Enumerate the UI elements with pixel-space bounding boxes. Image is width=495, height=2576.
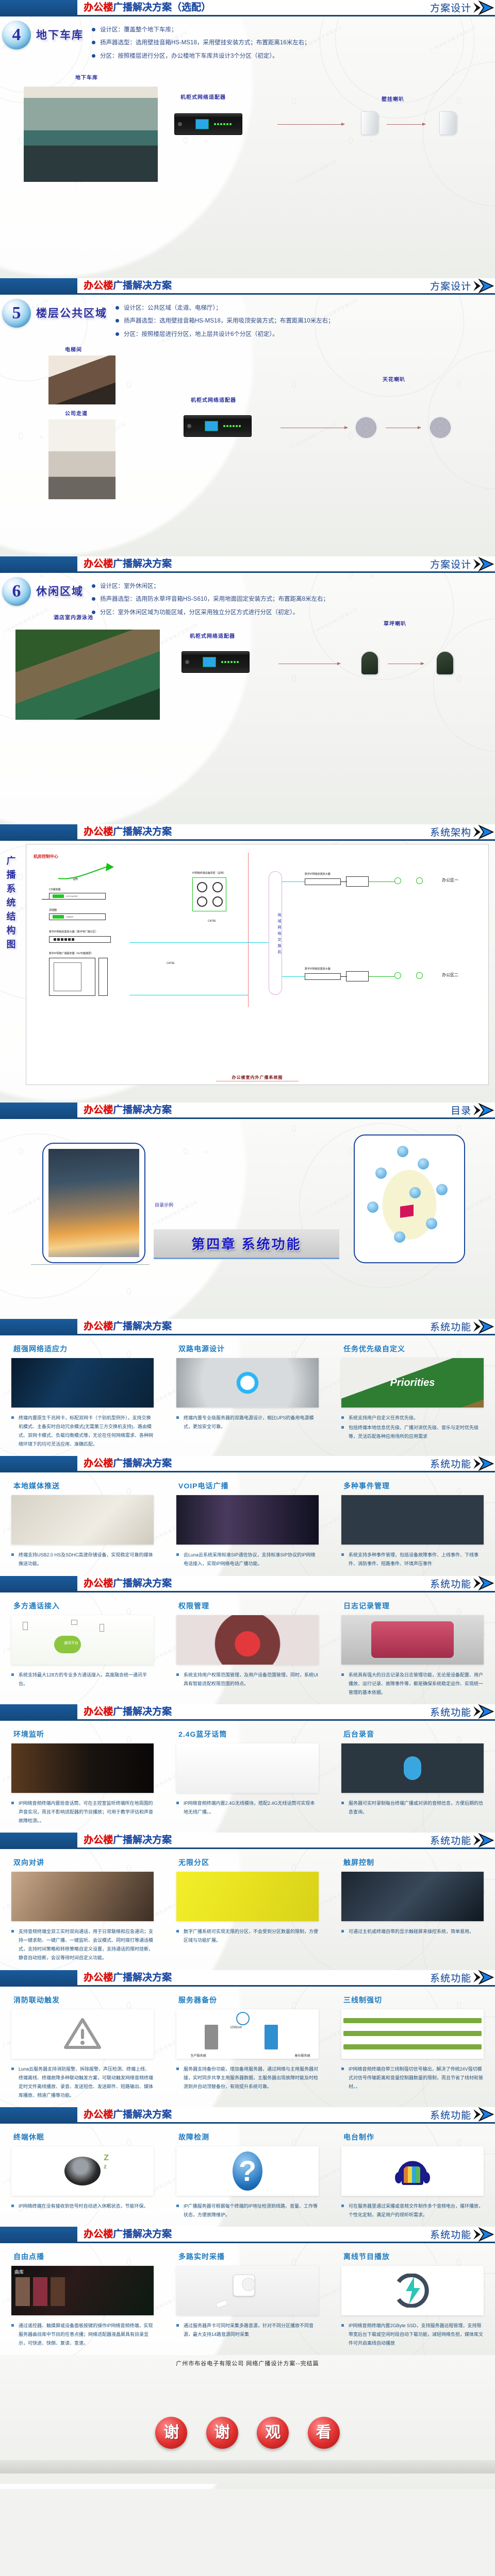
list-item: 设计区：公共区域（走道、电梯厅）； (114, 303, 487, 314)
signal-arrow (386, 428, 421, 428)
slide-header: 办公楼 广播解决方案 系统架构 (0, 824, 495, 841)
slide-system-function-2: 广州市布谷电子有限公司广州市布谷电子有限公司广州市布谷电子有限公司广州市布谷电子… (0, 1456, 495, 1575)
feature-bullet-list: Luna云服务器支持消防报警、拆除报警、声压检测、终端上线、终端离线、终端故障多… (11, 2065, 154, 2100)
slide-system-architecture: 广州市布谷电子有限公司 广州市布谷电子有限公司 广州市布谷电子有限公司 广州市布… (0, 824, 495, 1103)
feature-title: 无限分区 (178, 1857, 319, 1868)
zone-speaker-icon (416, 972, 423, 979)
lawn-speaker (436, 651, 454, 675)
feature-bullet-list: IP网络音频终端内置2GByte SSD，支持服务器远程管理，支持限带宽后台下载… (341, 2321, 484, 2348)
header-title-red: 办公楼 (84, 827, 113, 837)
next-arrow-icon[interactable] (472, 2227, 494, 2242)
feature-title: 服务器备份 (178, 1995, 319, 2005)
chapter-title: 第四章 系统功能 (191, 1234, 301, 1253)
ceiling-speaker (355, 416, 377, 439)
slide-floor-public-area: 广州市布谷电子有限公司 广州市布谷电子有限公司 广州市布谷电子有限公司 广州市布… (0, 278, 495, 556)
feature-bullet-list: IP广播服务器可根据每个终端的IP地址检测到线路、音量、工作等状态，方便故障维护… (176, 2202, 319, 2219)
feature-title: 超强网络适应力 (13, 1344, 154, 1354)
feature-bullet-list: 系统支持多种事件管理，包括设备故障事件、上线事件、下线事件、消防事件、短路事件、… (341, 1551, 484, 1568)
microphone-icon (57, 863, 114, 880)
next-arrow-icon[interactable] (472, 1103, 494, 1117)
feature-thumbnail (176, 2266, 319, 2315)
diagram-side-label: 广播系统结构图 (2, 854, 21, 952)
wall-speaker (439, 111, 457, 135)
header-title-blue: 广播解决方案 (113, 1973, 172, 1982)
header-title-red: 办公楼 (84, 1459, 113, 1468)
header-title-blue: 广播解决方案 (113, 1707, 172, 1717)
section-title: 地下车库 (36, 27, 84, 42)
chapter-content: 目录示例 第四章 系统功能 (0, 1119, 495, 1274)
feature-column-2: 无限分区数字广播系统可实现无限的分区，不会受到分区数量的限制，方便区域与功能扩展… (165, 1857, 330, 1963)
list-item: 扬声器选型：选用壁挂音箱HS-MS18，采用吸顶安装方式；布置距离10米左右； (114, 316, 487, 327)
control-center-label: 机房控制中心 (34, 854, 58, 859)
feature-bullet-list: 服务器支持备份功能，增加备用服务器，通过网络与主用服务器对接，实时同步共享主用服… (176, 2065, 319, 2091)
feature-columns: 超强网络适应力终端内置原生千兆网卡，标配双网卡（个别机型例外），支持交换机模式、… (0, 1335, 495, 1456)
section-title: 休闲区域 (36, 583, 84, 599)
feature-bullet-list: IP网络音频终端内置拾音话筒，可在主控室监听终端所在地周围的声音实况，而且不影响… (11, 1799, 154, 1825)
next-arrow-icon[interactable] (472, 1833, 494, 1848)
header-title-red: 办公楼 (84, 281, 113, 291)
feature-slides-container: 广州市布谷电子有限公司广州市布谷电子有限公司广州市布谷电子有限公司广州市布谷电子… (0, 1319, 495, 2355)
feature-column-3: 触屏控制可通过主机或终端自带的显示触碰屏来操控系统，简单易用。 (330, 1857, 495, 1963)
slide-header: 办公楼广播解决方案系统功能 (0, 1456, 495, 1472)
feature-title: 双路电源设计 (178, 1344, 319, 1354)
zone-speaker-icon (416, 877, 423, 884)
step-bubble: 4 (2, 21, 31, 49)
header-title-blue: 广播解决方案 (113, 559, 172, 569)
feature-thumbnail: i2Move 生产服务器 备份服务器 (176, 2009, 319, 2059)
list-item: 设计区：覆盖整个地下车库； (91, 25, 487, 36)
unit-label: 数字IP网络广播服务器（4U可触摸屏） (49, 952, 126, 955)
list-item: 分区：按照楼层进行分区，办公楼地下车库共设计3个分区（初定）。 (91, 51, 487, 62)
feature-bullet-list: 可通过主机或终端自带的显示触碰屏来操控系统，简单易用。 (341, 1927, 484, 1936)
header-left-block (0, 1970, 77, 1987)
feature-bullet: 包括终端本地信息优先级、广播对讲优先级、音乐与定时优先级等，灵活匹配各种应用场所… (341, 1423, 484, 1441)
feature-thumbnail: 曲库 (11, 2266, 154, 2315)
cable-label: CAT5E (208, 920, 216, 923)
feature-columns: 自由点播 曲库 通过遥控器、触摸屏或设备面板按键的操作IP网络音频终端，实现服务… (0, 2243, 495, 2355)
unit-label: 调谐器 (49, 908, 57, 912)
next-arrow-icon[interactable] (472, 279, 494, 293)
feature-thumbnail (341, 1495, 484, 1545)
tuner-unit: TUNER (49, 913, 106, 920)
feature-title: 双向对讲 (13, 1857, 154, 1868)
topology-diagram: 电梯间 公司走道 机柜式网络适配器 天花喇叭 (0, 344, 495, 504)
header-bar: 办公楼广播解决方案系统功能 (77, 1456, 495, 1472)
feature-thumbnail (11, 2009, 154, 2059)
zone-terminal-unit (346, 876, 369, 887)
header-left-block (0, 1103, 77, 1119)
feature-column-1: 本地媒体推送终端支持USB2.0 HS及SDHC高速存储设备，实现稳定可靠的媒体… (0, 1481, 165, 1569)
feature-column-3: 后台录音服务器可实时录制每台终端广播或对讲的音频信息，方便后期的信息查询。 (330, 1729, 495, 1826)
header-left-block (0, 1319, 77, 1335)
feature-thumbnail (11, 1872, 154, 1921)
feature-bullet: 可在服务器里通过采播或音频文件制作多个音频电台，循环播放，个性化定制，满足用户的… (341, 2202, 484, 2219)
garage-photo (24, 87, 158, 182)
lawn-speaker (361, 651, 378, 675)
zone-speaker-icon (394, 877, 401, 884)
building-card (42, 1143, 145, 1263)
feature-bullet: 终端内置原生千兆网卡，标配双网卡（个别机型例外），支持交换机模式、主备实时自动冗… (11, 1414, 154, 1449)
feature-bullet: 服务器可实时录制每台终端广播或对讲的音频信息，方便后期的信息查询。 (341, 1799, 484, 1817)
feature-bullet: IP网络音频终端内置拾音话筒，可在主控室监听终端所在地周围的声音实况，而且不影响… (11, 1799, 154, 1825)
header-section-label: 方案设计 (430, 557, 471, 571)
feature-bullet-list: IP网络音频终端自带三线制强切信号输出，解决了传统24V强切模式对信号传输距离和… (341, 2065, 484, 2091)
feature-title: 日志记录管理 (343, 1601, 484, 1611)
photo-caption: 地下车库 (75, 73, 98, 81)
feature-thumbnail: Z z (11, 2146, 154, 2196)
header-title-red: 办公楼 (84, 2229, 113, 2239)
header-title-blue: 广播解决方案 (113, 1579, 172, 1588)
device-caption: 机柜式网络适配器 (191, 396, 236, 403)
feature-bullet: IP网络音频终端自带三线制强切信号输出，解决了传统24V强切模式对信号传输距离和… (341, 2065, 484, 2091)
thanks-char: 观 (257, 2417, 289, 2449)
feature-bullet-list: 数字广播系统可实现无限的分区，不会受到分区数量的限制，方便区域与功能扩展。 (176, 1927, 319, 1945)
feature-title: 环境监听 (13, 1729, 154, 1739)
feature-column-1: 多方通话接入 通讯平台 系统支持最大128方的专业多方通话接入，高度融合统一通讯… (0, 1601, 165, 1698)
list-item: 分区：室外休闲区域为功能区域，分区采用独立分区方式进行分区（初定）。 (91, 607, 487, 618)
header-title-red: 办公楼 (84, 1707, 113, 1717)
header-section-label: 系统功能 (430, 2108, 471, 2122)
step-number: 4 (12, 26, 21, 44)
header-title-blue: 广播解决方案 (113, 281, 172, 291)
feature-bullet-list: 可在服务器里通过采播或音频文件制作多个音频电台，循环播放，个性化定制，满足用户的… (341, 2202, 484, 2219)
feature-column-1: 环境监听IP网络音频终端内置拾音话筒，可在主控室监听终端所在地周围的声音实况，而… (0, 1729, 165, 1826)
chapter-band: 第四章 系统功能 (154, 1229, 339, 1259)
divider-line (31, 1264, 150, 1265)
feature-bullet: 数字广播系统可实现无限的分区，不会受到分区数量的限制，方便区域与功能扩展。 (176, 1927, 319, 1945)
header-bar: 办公楼 广播解决方案 方案设计 (77, 278, 495, 295)
feature-title: 故障检测 (178, 2132, 319, 2142)
speaker-caption: 草坪喇叭 (384, 619, 406, 627)
header-left-block (0, 1456, 77, 1472)
corridor-photo (48, 419, 115, 499)
slide-header: 办公楼广播解决方案系统功能 (0, 1970, 495, 1987)
feature-title: 权限管理 (178, 1601, 319, 1611)
photo-caption: 酒店室内游泳池 (54, 613, 93, 621)
header-left-block (0, 278, 77, 295)
feature-thumbnail (11, 1358, 154, 1408)
header-bar: 办公楼广播解决方案系统功能 (77, 1970, 495, 1987)
feature-title: 离线节目播放 (343, 2251, 484, 2262)
feature-bullet: 系统具有强大的日志记录及日志管理功能，无论是设备配置、用户播放、运行记录、故障事… (341, 1671, 484, 1697)
feature-bullet: 系统支持多种事件管理，包括设备故障事件、上线事件、下线事件、消防事件、短路事件、… (341, 1551, 484, 1568)
slide-header: 办公楼广播解决方案系统功能 (0, 1833, 495, 1849)
slide-chapter-divider: 广州市布谷电子有限公司 广州市布谷电子有限公司 广州市布谷电子有限公司 广州市布… (0, 1103, 495, 1319)
feature-thumbnail (176, 1615, 319, 1665)
feature-thumbnail (176, 1743, 319, 1793)
feature-thumbnail (341, 2146, 484, 2196)
feature-bullet-list: 支持音频终端全双工实时双向通话，用于日常联络和应急通讯；支持一键求助、一键广播、… (11, 1927, 154, 1962)
feature-column-3: 电台制作 可在服务器里通过采播或音频文件制作多个音频电台，循环播放，个性化定制，… (330, 2132, 495, 2221)
header-bar: 办公楼 广播解决方案 目录 (77, 1103, 495, 1119)
header-section-label: 系统功能 (430, 1971, 471, 1985)
zone-label: 办公区一 (442, 877, 458, 883)
speaker-caption: 壁挂喇叭 (382, 95, 404, 103)
feature-bullet-list: 云Luna云系统采用标准SIP通信协议，支持标准SIP协议的IP网络电话接入，实… (176, 1551, 319, 1568)
preamp-unit (49, 936, 111, 943)
bullet-list: 设计区：公共区域（走道、电梯厅）； 扬声器选型：选用壁挂音箱HS-MS18，采用… (114, 303, 495, 342)
section-title: 楼层公共区域 (36, 305, 107, 320)
feature-bullet: IP网络音频终端内置2.4G无线模块，搭配2.4G无线话筒可实现本地无线广播。。 (176, 1799, 319, 1817)
header-title-red: 办公楼 (84, 1579, 113, 1588)
header-title-red: 办公楼 (84, 1835, 113, 1845)
feature-columns: 多方通话接入 通讯平台 系统支持最大128方的专业多方通话接入，高度融合统一通讯… (0, 1592, 495, 1704)
headphone-icon (392, 2155, 433, 2187)
topology-diagram: 酒店室内游泳池 机柜式网络适配器 草坪喇叭 (0, 622, 495, 756)
feature-title: 终端休眠 (13, 2132, 154, 2142)
unit-label: CD播放器 (49, 888, 60, 891)
feature-title: 后台录音 (343, 1729, 484, 1739)
signal-arrow (387, 124, 425, 125)
next-arrow-icon[interactable] (472, 1319, 494, 1334)
feature-columns: 环境监听IP网络音频终端内置拾音话筒，可在主控室监听终端所在地周围的声音实况，而… (0, 1721, 495, 1833)
feature-title: 多种事件管理 (343, 1481, 484, 1491)
feature-bullet: 通过遥控器、触摸屏或设备面板按键的操作IP网络音频终端，实现服务器曲目库中节目的… (11, 2321, 154, 2348)
feature-bullet-list: 系统支持用户权限范围管理，及用户设备范围管理，同时，系统UI具有智能适配权限范围… (176, 1671, 319, 1688)
feature-thumbnail (176, 1872, 319, 1921)
network-switch-pipe: 局域网络交换机 (269, 871, 282, 995)
network-card (354, 1134, 465, 1263)
next-arrow-icon[interactable] (472, 2107, 494, 2122)
signal-arrow (388, 664, 424, 664)
signal-arrow (280, 428, 348, 428)
feature-bullet: 云Luna云系统采用标准SIP通信协议，支持标准SIP协议的IP网络电话接入，实… (176, 1551, 319, 1568)
header-bar: 办公楼广播解决方案系统功能 (77, 1576, 495, 1592)
feature-bullet-list: 系统支持最大128方的专业多方通话接入，高度融合统一通讯平台。 (11, 1671, 154, 1688)
presentation-deck: 广州市布谷电子有限公司 广州市布谷电子有限公司 广州市布谷电子有限公司 广州市布… (0, 0, 495, 2489)
next-arrow-icon[interactable] (472, 1456, 494, 1471)
header-bar: 办公楼广播解决方案系统功能 (77, 2107, 495, 2124)
photo-caption-corridor: 公司走道 (65, 409, 88, 417)
feature-bullet: IP广播服务器可根据每个终端的IP地址检测到线路、音量、工作等状态，方便故障维护… (176, 2202, 319, 2219)
header-left-block (0, 2107, 77, 2124)
feature-bullet: 系统支持用户权限范围管理，及用户设备范围管理，同时，系统UI具有智能适配权限范围… (176, 1671, 319, 1688)
feature-bullet: 服务器支持备份功能，增加备用服务器，通过网络与主用服务器对接，实时同步共享主用服… (176, 2065, 319, 2091)
feature-thumbnail (11, 1495, 154, 1545)
header-section-label: 系统功能 (430, 1319, 471, 1333)
device-caption: 机柜式网络适配器 (180, 93, 226, 100)
feature-thumbnail (176, 1358, 319, 1408)
feature-column-2: 权限管理系统支持用户权限范围管理，及用户设备范围管理，同时，系统UI具有智能适配… (165, 1601, 330, 1698)
slide-system-function-8: 广州市布谷电子有限公司广州市布谷电子有限公司广州市布谷电子有限公司广州市布谷电子… (0, 2227, 495, 2355)
list-item: 设计区：室外休闲区； (91, 581, 487, 592)
zone-speaker-icon (394, 972, 401, 979)
feature-thumbnail (176, 1495, 319, 1545)
feature-title: 多方通话接入 (13, 1601, 154, 1611)
step-number: 5 (12, 304, 21, 322)
feature-bullet: IP网络终端在没有接收到信号时自动进入休眠状态，节能环保。 (11, 2202, 154, 2211)
device-caption: 机柜式网络适配器 (190, 632, 235, 639)
signal-arrow (277, 124, 344, 125)
elevator-photo (48, 355, 115, 404)
thanks-char: 看 (308, 2417, 340, 2449)
feature-title: 触屏控制 (343, 1857, 484, 1868)
feature-column-3: 多种事件管理系统支持多种事件管理，包括设备故障事件、上线事件、下线事件、消防事件… (330, 1481, 495, 1569)
header-title-blue: 广播解决方案 (113, 1459, 172, 1468)
slide-system-function-3: 广州市布谷电子有限公司广州市布谷电子有限公司广州市布谷电子有限公司广州市布谷电子… (0, 1576, 495, 1704)
unit-label: 数字IP网络前置放大器（数字电广播分区） (49, 930, 126, 934)
list-item: 分区：按照楼层进行分区，地上层共设计6个分区（初定）。 (114, 329, 487, 340)
feature-thumbnail (341, 1743, 484, 1793)
feature-title: VOIP电话广播 (178, 1481, 319, 1491)
network-adapter-device (184, 415, 252, 437)
terminal-rack (192, 877, 226, 911)
feature-thumbnail (341, 1615, 484, 1665)
feature-bullet: 系统支持用户自定义任务优先级。 (341, 1414, 484, 1422)
header-title-blue: 广播解决方案 (113, 2110, 172, 2120)
feature-bullet-list: 终端内置专业级服务器的双路电源设计，相比UPS的备用电源模式，更加安全可靠。 (176, 1414, 319, 1431)
cd-player-unit: CD PLAYER (49, 893, 106, 900)
header-title-blue: 广播解决方案 (113, 2229, 172, 2239)
header-left-block (0, 2227, 77, 2243)
feature-thumbnail (341, 2266, 484, 2315)
feature-bullet-list: 服务器可实时录制每台终端广播或对讲的音频信息，方便后期的信息查询。 (341, 1799, 484, 1817)
diagram-title: 办公楼室内外广播系统图 (216, 1075, 299, 1081)
slide-header: 办公楼广播解决方案系统功能 (0, 2227, 495, 2243)
feature-columns: 本地媒体推送终端支持USB2.0 HS及SDHC高速存储设备，实现稳定可靠的媒体… (0, 1472, 495, 1575)
header-title-red: 办公楼 (84, 3, 113, 12)
feature-column-1: 消防联动触发 Luna云服务器支持消防报警、拆除报警、声压检测、终端上线、终端离… (0, 1995, 165, 2101)
header-title-blue: 广播解决方案 (113, 1835, 172, 1845)
network-image (360, 1141, 459, 1257)
slide-thanks: 广州市布谷电子有限公司 广州市布谷电子有限公司 广州市布谷电子有限公司 网络广播… (0, 2355, 495, 2489)
header-bar: 办公楼 广播解决方案 方案设计 (77, 556, 495, 573)
next-arrow-icon[interactable] (472, 1704, 494, 1719)
header-section-label: 系统功能 (430, 1456, 471, 1470)
feature-column-2: 双路电源设计终端内置专业级服务器的双路电源设计，相比UPS的备用电源模式，更加安… (165, 1344, 330, 1450)
thanks-row: 谢 谢 观 看 (0, 2417, 495, 2449)
feature-thumbnail (11, 1743, 154, 1793)
step-number: 6 (12, 583, 21, 600)
server-side-panel (98, 958, 108, 996)
diagram-canvas: 机房控制中心 话筒 CD播放器 CD PLAYER 调谐器 TUNER 数字IP… (26, 844, 489, 1085)
feature-bullet-list: 系统支持用户自定义任务优先级。包括终端本地信息优先级、广播对讲优先级、音乐与定时… (341, 1414, 484, 1441)
wall-speaker (361, 111, 378, 135)
next-arrow-icon[interactable] (472, 1576, 494, 1590)
feature-columns: 双向对讲支持音频终端全双工实时双向通话，用于日常联络和应急通讯；支持一键求助、一… (0, 1849, 495, 1970)
slide-header: 办公楼 广播解决方案 方案设计 (0, 278, 495, 295)
slide-header: 办公楼 广播解决方案 目录 (0, 1103, 495, 1119)
header-title-red: 办公楼 (84, 1973, 113, 1982)
feature-column-3: 日志记录管理系统具有强大的日志记录及日志管理功能，无论是设备配置、用户播放、运行… (330, 1601, 495, 1698)
header-bar: 办公楼 广播解决方案（选配） 方案设计 (77, 0, 495, 16)
header-title-blue: 广播解决方案 (113, 1105, 172, 1115)
photo-caption-elevator: 电梯间 (65, 345, 82, 353)
feature-bullet-list: IP网络音频终端内置2.4G无线模块，搭配2.4G无线话筒可实现本地无线广播。。 (176, 1799, 319, 1817)
feature-column-2: 故障检测?IP广播服务器可根据每个终端的IP地址检测到线路、音量、工作等状态，方… (165, 2132, 330, 2221)
step-bubble: 5 (2, 299, 31, 328)
header-section-label: 系统功能 (430, 2227, 471, 2241)
header-section-label: 系统功能 (430, 1705, 471, 1719)
header-section-label: 目录 (451, 1103, 471, 1117)
header-bar: 办公楼广播解决方案系统功能 (77, 1319, 495, 1335)
feature-column-3: 任务优先级自定义Priorities系统支持用户自定义任务优先级。包括终端本地信… (330, 1344, 495, 1450)
slide-header: 办公楼 广播解决方案（选配） 方案设计 (0, 0, 495, 16)
header-left-block (0, 556, 77, 573)
feature-title: 消防联动触发 (13, 1995, 154, 2005)
feature-column-1: 自由点播 曲库 通过遥控器、触摸屏或设备面板按键的操作IP网络音频终端，实现服务… (0, 2251, 165, 2349)
feature-title: 电台制作 (343, 2132, 484, 2142)
feature-title: 自由点播 (13, 2251, 154, 2262)
list-item: 扬声器选型：选用防水草坪音箱HS-S610，采用地面固定安装方式；布置距离8米左… (91, 594, 487, 605)
warning-triangle-icon (64, 2018, 101, 2050)
slide-leisure-area: 广州市布谷电子有限公司 广州市布谷电子有限公司 广州市布谷电子有限公司 办公楼 … (0, 556, 495, 824)
feature-thumbnail (341, 2009, 484, 2059)
feature-bullet-list: 通过服务器声卡可同时采集多路音源，针对不同分区播放不同音源，最大支持14路音源同… (176, 2321, 319, 2339)
architecture-diagram: 广播系统结构图 机房控制中心 话筒 CD播放器 CD PLAYER 调谐器 TU… (0, 841, 495, 1088)
header-left-block (0, 824, 77, 841)
header-left-block (0, 1576, 77, 1592)
next-arrow-icon[interactable] (472, 557, 494, 571)
panel-label: IP网络终端设备机柜（总称） (192, 871, 270, 875)
feature-thumbnail: Priorities (341, 1358, 484, 1408)
feature-column-3: 三线制强切IP网络音频终端自带三线制强切信号输出，解决了传统24V强切模式对信号… (330, 1995, 495, 2101)
next-arrow-icon[interactable] (472, 1, 494, 15)
feature-thumbnail: ? (176, 2146, 319, 2196)
question-mark-icon: ? (233, 2151, 262, 2191)
feature-column-2: VOIP电话广播云Luna云系统采用标准SIP通信协议，支持标准SIP协议的IP… (165, 1481, 330, 1569)
slide-header: 办公楼广播解决方案系统功能 (0, 1319, 495, 1335)
header-section-label: 方案设计 (430, 1, 471, 14)
pool-photo (15, 630, 160, 720)
slide-system-function-7: 广州市布谷电子有限公司广州市布谷电子有限公司广州市布谷电子有限公司广州市布谷电子… (0, 2107, 495, 2227)
broadcast-server-unit (49, 958, 95, 996)
feature-bullet: Luna云服务器支持消防报警、拆除报警、声压检测、终端上线、终端离线、终端故障多… (11, 2065, 154, 2100)
feature-column-1: 终端休眠 Z zIP网络终端在没有接收到信号时自动进入休眠状态，节能环保。 (0, 2132, 165, 2221)
header-left-block (0, 1833, 77, 1849)
thanks-char: 谢 (155, 2417, 187, 2449)
feature-columns: 消防联动触发 Luna云服务器支持消防报警、拆除报警、声压检测、终端上线、终端离… (0, 1987, 495, 2107)
cable-label: CAT5E (167, 962, 175, 965)
feature-thumbnail (341, 1872, 484, 1921)
feature-title: 三线制强切 (343, 1995, 484, 2005)
feature-bullet-list: 终端内置原生千兆网卡，标配双网卡（个别机型例外），支持交换机模式、主备实时自动冗… (11, 1414, 154, 1449)
feature-bullet-list: 通过遥控器、触摸屏或设备面板按键的操作IP网络音频终端，实现服务器曲目库中节目的… (11, 2321, 154, 2348)
next-arrow-icon[interactable] (472, 1970, 494, 1985)
feature-bullet: IP网络音频终端内置2GByte SSD，支持服务器远程管理，支持限带宽后台下载… (341, 2321, 484, 2348)
slide-system-function-1: 广州市布谷电子有限公司广州市布谷电子有限公司广州市布谷电子有限公司广州市布谷电子… (0, 1319, 495, 1456)
feature-column-2: 2.4G蓝牙话筒IP网络音频终端内置2.4G无线模块，搭配2.4G无线话筒可实现… (165, 1729, 330, 1826)
header-title-red: 办公楼 (84, 1321, 113, 1331)
company-footer: 广州市布谷电子有限公司 网络广播设计方案--完结篇 (0, 2359, 495, 2367)
bullet-list: 设计区：覆盖整个地下车库； 扬声器选型：选用壁挂音箱HS-MS18，采用壁挂安装… (91, 25, 495, 64)
feature-bullet: 系统支持最大128方的专业多方通话接入，高度融合统一通讯平台。 (11, 1671, 154, 1688)
header-title-blue: 广播解决方案 (113, 827, 172, 837)
slide-header: 办公楼广播解决方案系统功能 (0, 1576, 495, 1592)
slide-header: 办公楼广播解决方案系统功能 (0, 1704, 495, 1721)
header-title-red: 办公楼 (84, 2110, 113, 2120)
feature-bullet-list: 终端支持USB2.0 HS及SDHC高速存储设备，实现稳定可靠的媒体推送功能。 (11, 1551, 154, 1568)
header-left-block (0, 1704, 77, 1721)
feature-column-3: 离线节目播放 IP网络音频终端内置2GByte SSD，支持服务器远程管理，支持… (330, 2251, 495, 2349)
zone-terminal-unit (346, 971, 369, 981)
feature-title: 任务优先级自定义 (343, 1344, 484, 1354)
feature-bullet-list: IP网络终端在没有接收到信号时自动进入休眠状态，节能环保。 (11, 2202, 154, 2211)
feature-column-1: 超强网络适应力终端内置原生千兆网卡，标配双网卡（个别机型例外），支持交换机模式、… (0, 1344, 165, 1450)
feature-title: 多路实时采播 (178, 2251, 319, 2262)
network-adapter-device (181, 651, 250, 673)
network-adapter-device (174, 113, 242, 135)
feature-column-2: 多路实时采播 通过服务器声卡可同时采集多路音源，针对不同分区播放不同音源，最大支… (165, 2251, 330, 2349)
header-left-block (0, 0, 77, 16)
bottom-ribbon (0, 2460, 495, 2473)
header-title-red: 办公楼 (84, 559, 113, 569)
header-bar: 办公楼 广播解决方案 系统架构 (77, 824, 495, 841)
signal-arrow (278, 664, 340, 664)
feature-title: 2.4G蓝牙话筒 (178, 1729, 319, 1739)
next-arrow-icon[interactable] (472, 825, 494, 839)
feature-bullet: 支持音频终端全双工实时双向通话，用于日常联络和应急通讯；支持一键求助、一键广播、… (11, 1927, 154, 1962)
